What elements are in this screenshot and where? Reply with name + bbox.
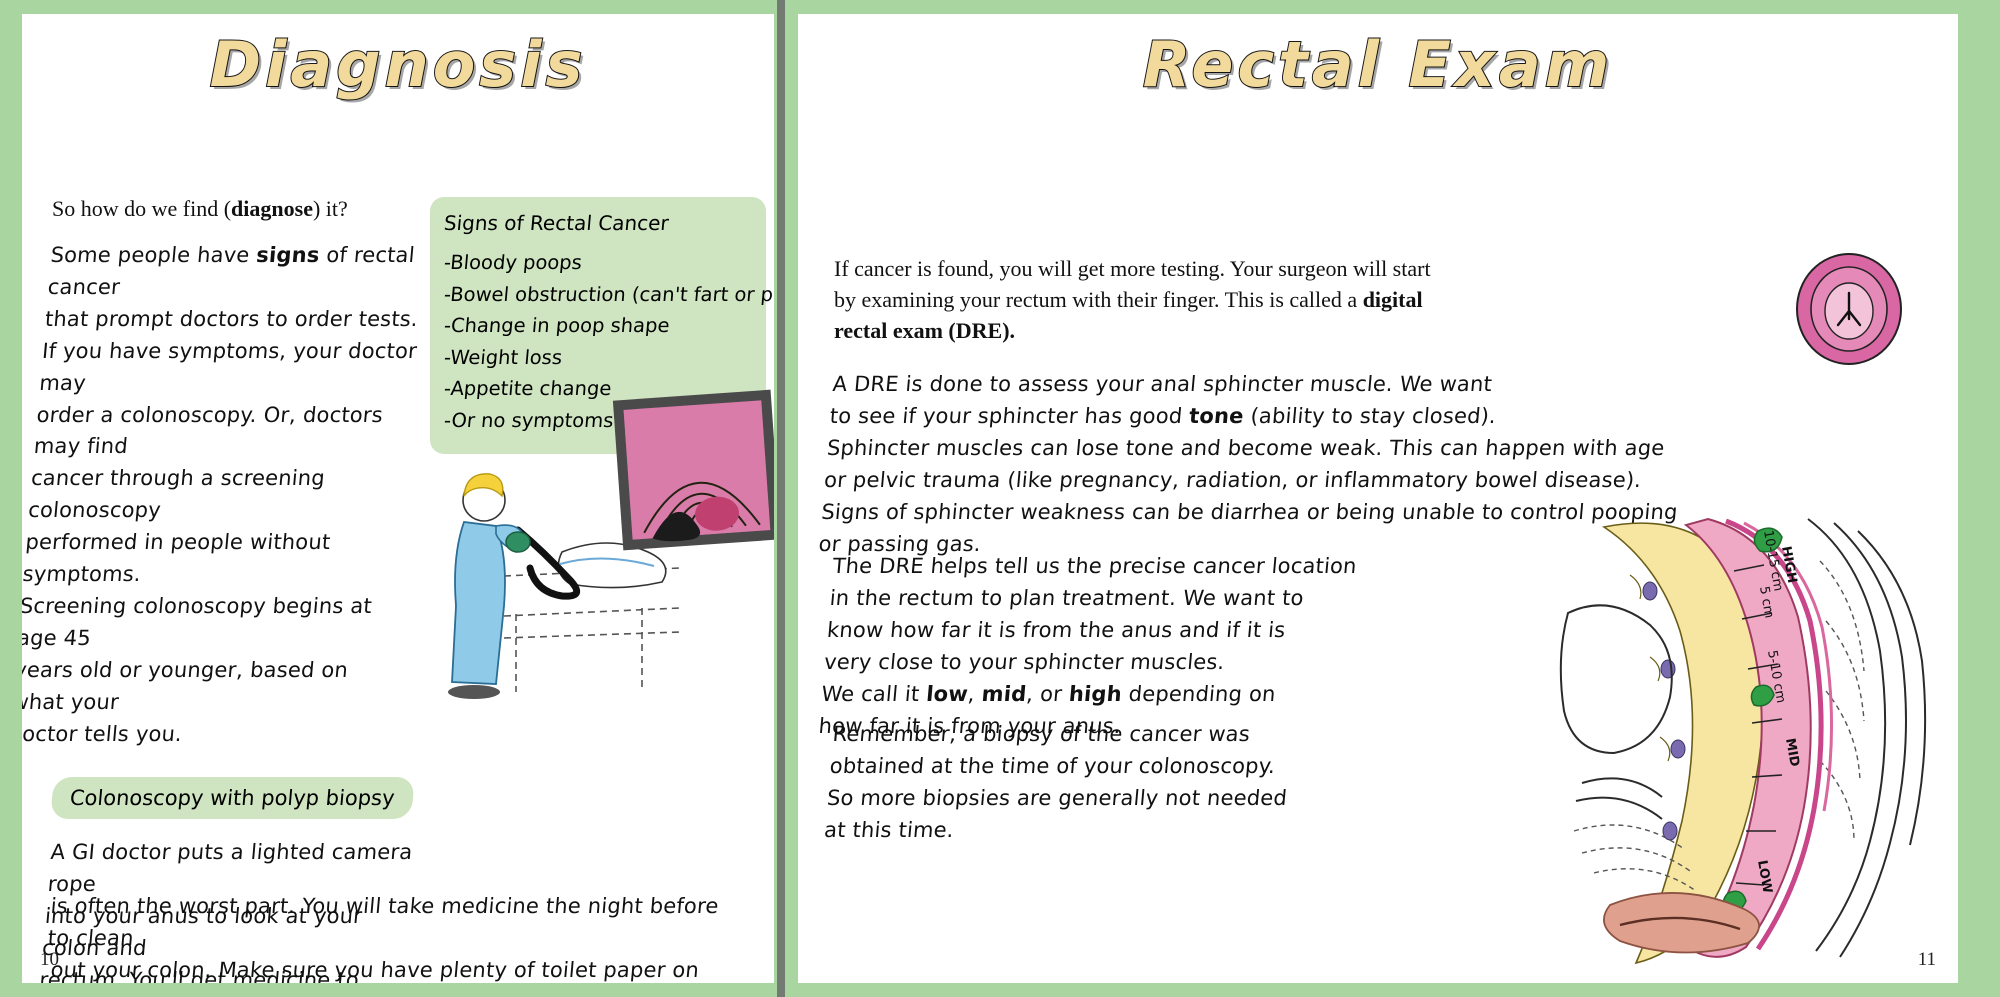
lead-paragraph: So how do we find (diagnose) it? [52,193,427,224]
location-line-3: very close to your sphincter muscles. [823,647,1386,679]
body-line-1: that prompt doctors to order tests. [44,304,422,336]
body-line-4: cancer through a screening colonoscopy [27,464,408,528]
list-item: -Weight loss [443,342,754,374]
colonoscopy-chip: Colonoscopy with polyp biopsy [50,777,414,819]
remember-line-3: at this time. [823,815,1346,847]
location-line-2: know how far it is from the anus and if … [826,615,1389,647]
pelvic-rectum-anatomy-icon: 5 cm 5-10 cm 10-15 cm HIGH MID LOW [1558,501,1948,971]
body-line-5: performed in people without symptoms. [22,527,402,591]
remember-line-0: Remember, a biopsy of the cancer was [831,719,1354,751]
body-line-6: Screening colonoscopy begins at age 45 [22,591,396,655]
colonoscopy-wide-paragraph: is often the worst part. You will take m… [52,891,742,983]
left-text-column: So how do we find (diagnose) it? Some pe… [52,193,427,983]
list-item: -Bloody poops [443,247,754,279]
page-title-rectal-exam: Rectal Exam [798,28,1958,101]
signs-box-title: Signs of Rectal Cancer [443,211,753,235]
body-line-8: doctor tells you. [22,719,385,751]
endoscope-monitor-icon [610,389,774,554]
remember-line-1: obtained at the time of your colonoscopy… [828,751,1351,783]
book-spread: Diagnosis So how do we find (diagnose) i… [0,0,2000,997]
dre-line-3: or pelvic trauma (like pregnancy, radiat… [823,465,1826,497]
location-line-0: The DRE helps tell us the precise cancer… [831,551,1394,583]
body-line-3: order a colonoscopy. Or, doctors may fin… [32,400,413,464]
anus-cross-section-icon [1784,249,1914,369]
colonoscopy-wide-line-1: out your colon. Make sure you have plent… [46,955,742,983]
left-page-body: So how do we find (diagnose) it? Some pe… [22,111,774,983]
page-number-left: 10 [40,949,59,971]
remember-line-2: So more biopsies are generally not neede… [826,783,1349,815]
body-line-2: If you have symptoms, your doctor may [38,336,419,400]
book-gutter [777,0,785,997]
intro-paragraph: If cancer is found, you will get more te… [834,253,1454,347]
intro-line-0: If cancer is found, you will get more te… [834,253,1454,284]
intro-line-1: by examining your rectum with their fing… [834,284,1454,315]
diagnosis-body-paragraph: Some people have signs of rectal cancer … [22,240,427,751]
dre-line-1: to see if your sphincter has good tone (… [828,401,1831,433]
colonoscopy-wide-line-0: is often the worst part. You will take m… [46,891,742,955]
location-paragraph: The DRE helps tell us the precise cancer… [817,551,1394,742]
intro-line-2: rectal exam (DRE). [834,315,1454,346]
right-page: Rectal Exam If cancer is found, you will… [798,14,1958,983]
lead-bold: diagnose [231,196,313,221]
body-line-0: Some people have signs of rectal cancer [46,240,427,304]
left-page: Diagnosis So how do we find (diagnose) i… [22,14,774,983]
location-line-4: We call it low, mid, or high depending o… [820,679,1383,711]
lead-text-part2: ) it? [313,196,348,221]
body-line-7: years old or younger, based on what your [22,655,391,719]
list-item: -Change in poop shape [443,310,754,342]
location-line-1: in the rectum to plan treatment. We want… [828,583,1391,615]
dre-line-2: Sphincter muscles can lose tone and beco… [826,433,1829,465]
list-item: -Bowel obstruction (can't fart or poop) [443,279,754,311]
remember-paragraph: Remember, a biopsy of the cancer was obt… [823,719,1354,847]
dre-line-0: A DRE is done to assess your anal sphinc… [831,369,1834,401]
right-page-body: If cancer is found, you will get more te… [798,111,1958,983]
page-number-right: 11 [1918,949,1936,971]
lead-text-part1: So how do we find ( [52,196,231,221]
page-title-diagnosis: Diagnosis [22,28,774,101]
